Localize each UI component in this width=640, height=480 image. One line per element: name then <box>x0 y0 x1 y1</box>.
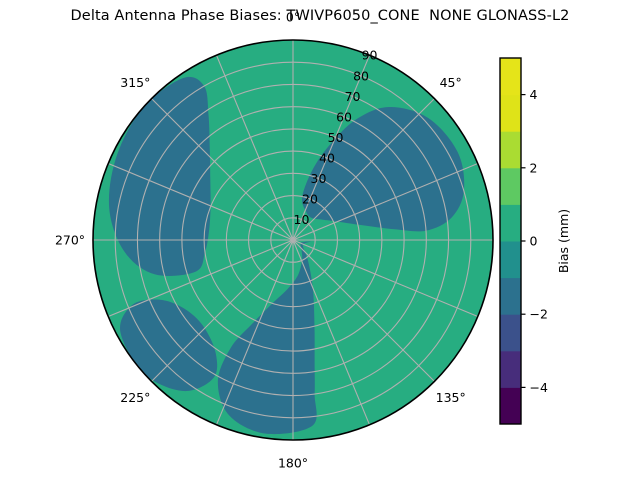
colorbar-ticks: −4−2024 <box>521 87 548 395</box>
chart-root: Delta Antenna Phase Biases: TWIVP6050_CO… <box>0 0 640 480</box>
colorbar-band <box>500 241 521 278</box>
theta-tick-label: 270° <box>55 233 85 248</box>
colorbar-bands <box>500 58 521 425</box>
theta-tick-label: 315° <box>120 75 150 90</box>
colorbar-svg: −4−2024 Bias (mm) <box>490 40 640 440</box>
colorbar-band <box>500 204 521 241</box>
colorbar-tick-label: −4 <box>530 380 548 395</box>
colorbar-band <box>500 387 521 424</box>
radial-tick-label: 60 <box>336 109 352 124</box>
colorbar-axis-label: Bias (mm) <box>556 209 571 273</box>
polar-gridlines <box>93 40 493 440</box>
radial-tick-label: 80 <box>353 68 369 83</box>
colorbar-tick-label: 0 <box>530 234 538 249</box>
colorbar-band <box>500 95 521 132</box>
radial-tick-label: 40 <box>319 150 335 165</box>
colorbar-band <box>500 278 521 315</box>
colorbar-band <box>500 351 521 388</box>
colorbar-band <box>500 131 521 168</box>
colorbar-tick-label: −2 <box>530 307 548 322</box>
colorbar-band <box>500 58 521 95</box>
theta-tick-label: 0° <box>286 10 300 25</box>
theta-tick-label: 45° <box>440 75 462 90</box>
theta-tick-label: 135° <box>436 390 466 405</box>
radial-tick-label: 90 <box>362 48 378 63</box>
colorbar-tick-label: 4 <box>530 87 538 102</box>
colorbar-band <box>500 314 521 351</box>
colorbar-tick-label: 2 <box>530 160 538 175</box>
colorbar: −4−2024 Bias (mm) <box>490 40 640 440</box>
theta-tick-label: 180° <box>278 456 308 471</box>
radial-tick-label: 30 <box>311 171 327 186</box>
theta-tick-label: 225° <box>120 390 150 405</box>
radial-tick-label: 50 <box>328 130 344 145</box>
radial-tick-label: 70 <box>345 89 361 104</box>
radial-tick-label: 10 <box>294 212 310 227</box>
colorbar-band <box>500 168 521 205</box>
radial-tick-label: 20 <box>302 191 318 206</box>
polar-plot-svg: 0°45°90°135°180°225°270°315° 10203040506… <box>0 0 520 480</box>
polar-axes: 0°45°90°135°180°225°270°315° 10203040506… <box>0 0 520 480</box>
